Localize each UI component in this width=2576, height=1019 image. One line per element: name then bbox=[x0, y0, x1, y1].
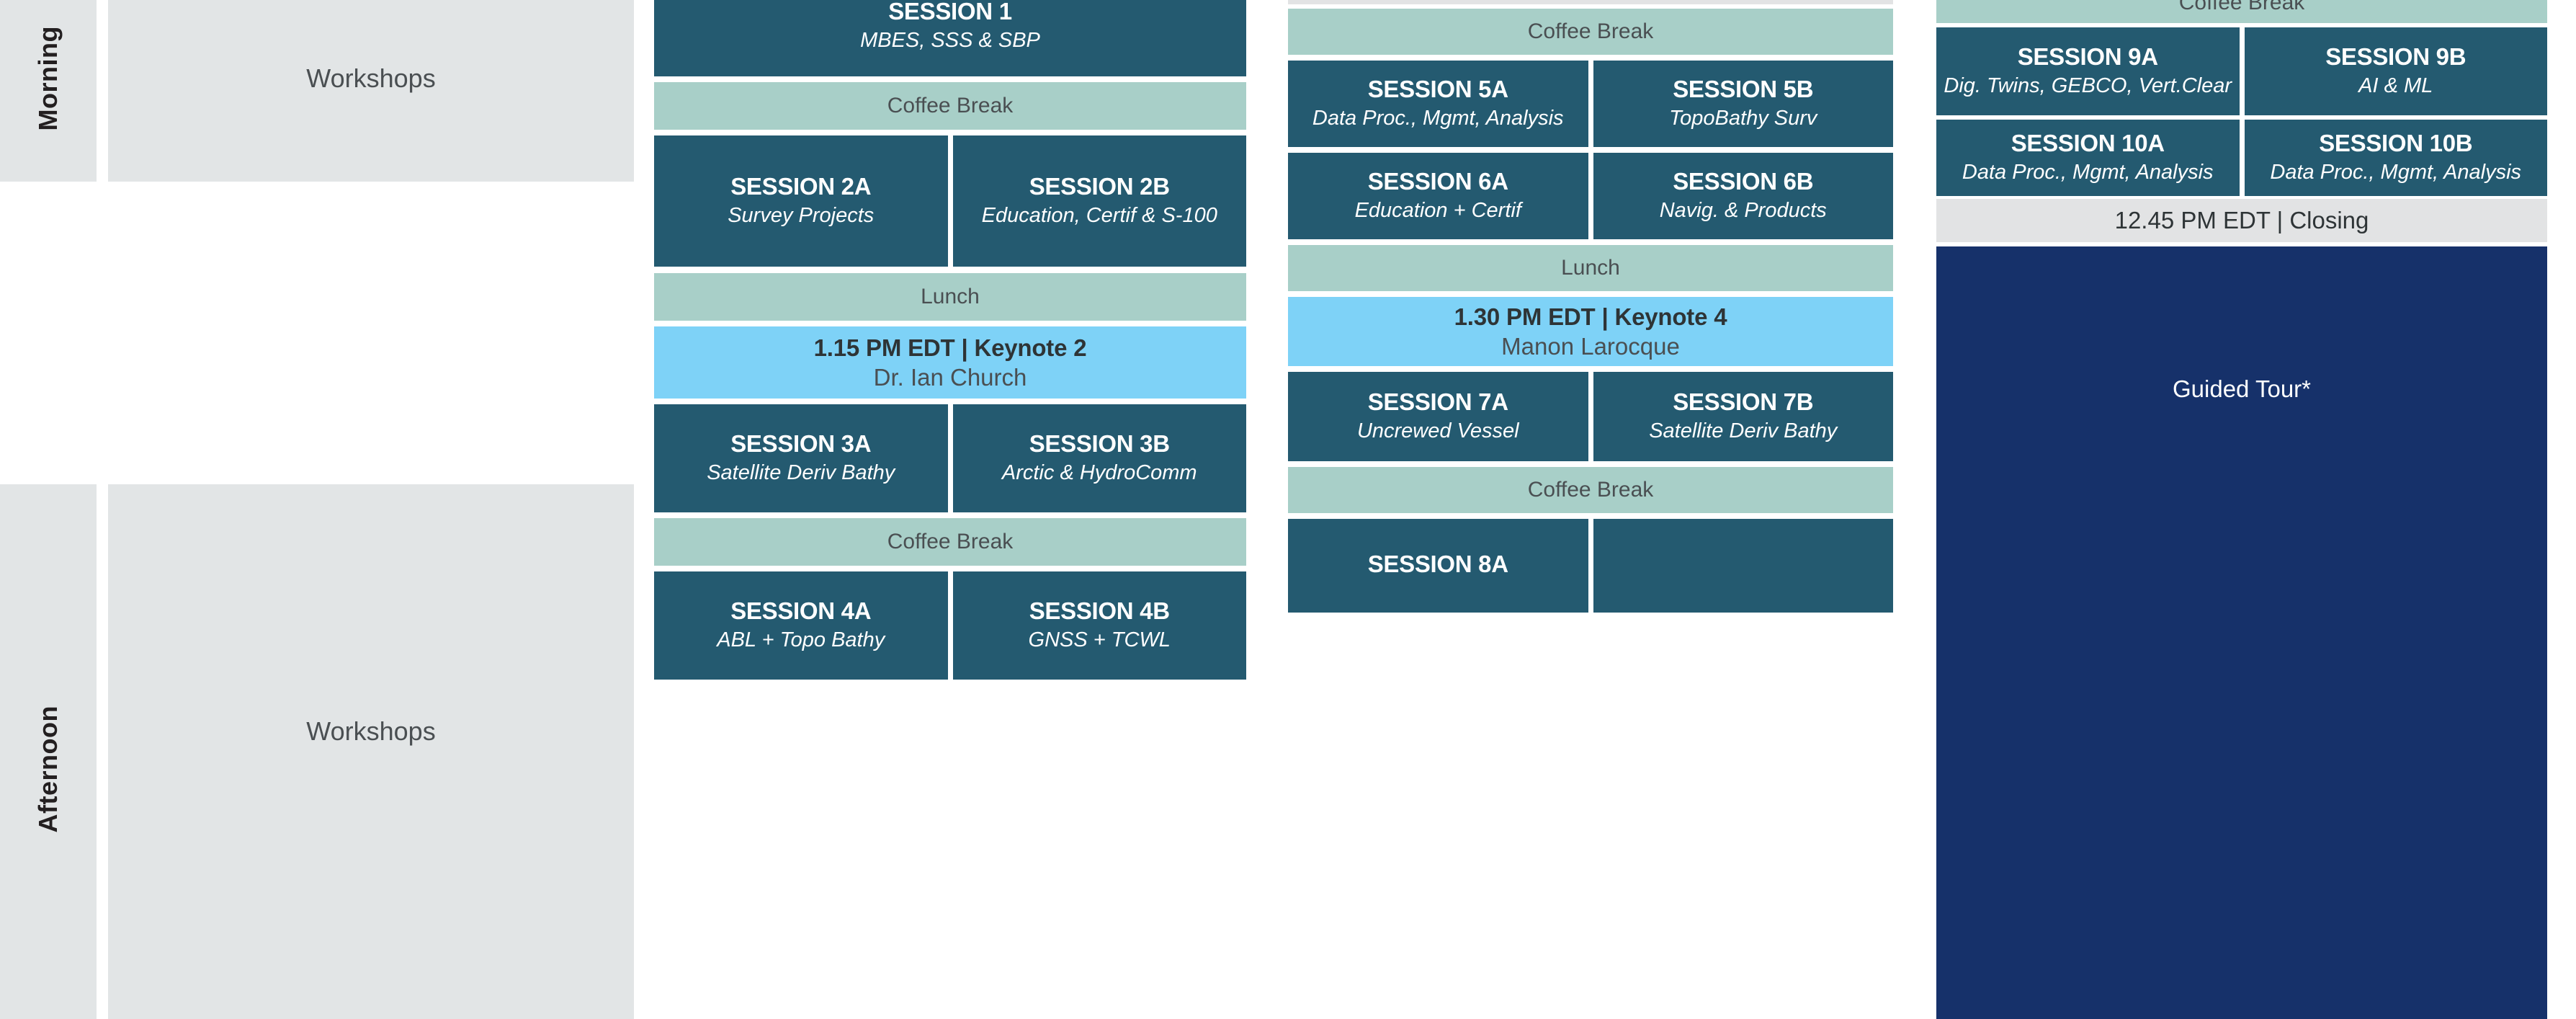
keynote-2-block[interactable]: 1.15 PM EDT | Keynote 2 Dr. Ian Church bbox=[654, 326, 1246, 399]
session-8a-block[interactable]: SESSION 8A bbox=[1288, 519, 1588, 613]
session-6a-block[interactable]: SESSION 6A Education + Certif bbox=[1288, 153, 1588, 239]
morning-workshops-cell[interactable]: Workshops bbox=[108, 0, 634, 182]
closing-label: 12.45 PM EDT | Closing bbox=[2115, 207, 2369, 234]
session-1-block[interactable]: SESSION 1 MBES, SSS & SBP bbox=[654, 0, 1246, 76]
afternoon-workshops-text: Workshops bbox=[306, 716, 435, 747]
session-2-row: SESSION 2A Survey Projects SESSION 2B Ed… bbox=[654, 135, 1246, 267]
session-9a-title: SESSION 9A bbox=[2018, 44, 2158, 71]
session-1-subtitle: MBES, SSS & SBP bbox=[860, 28, 1040, 53]
keynote-2-speaker: Dr. Ian Church bbox=[874, 364, 1027, 391]
session-8b-block[interactable] bbox=[1593, 519, 1894, 613]
session-2b-block[interactable]: SESSION 2B Education, Certif & S-100 bbox=[953, 135, 1247, 267]
session-10b-block[interactable]: SESSION 10B Data Proc., Mgmt, Analysis bbox=[2245, 120, 2548, 196]
session-10b-title: SESSION 10B bbox=[2319, 130, 2472, 157]
session-3-row: SESSION 3A Satellite Deriv Bathy SESSION… bbox=[654, 404, 1246, 512]
afternoon-workshops-cell[interactable]: Workshops bbox=[108, 484, 634, 1019]
session-5a-subtitle: Data Proc., Mgmt, Analysis bbox=[1312, 106, 1564, 130]
session-10-row: SESSION 10A Data Proc., Mgmt, Analysis S… bbox=[1936, 120, 2547, 196]
afternoon-label: Afternoon bbox=[0, 484, 97, 1019]
day3-lunch-label: Lunch bbox=[1561, 256, 1620, 280]
session-4b-subtitle: GNSS + TCWL bbox=[1029, 628, 1171, 652]
session-3a-title: SESSION 3A bbox=[730, 431, 871, 458]
session-7b-title: SESSION 7B bbox=[1673, 389, 1813, 416]
morning-label: Morning bbox=[0, 0, 97, 182]
session-9b-block[interactable]: SESSION 9B AI & ML bbox=[2245, 27, 2548, 115]
session-7a-subtitle: Uncrewed Vessel bbox=[1357, 419, 1519, 443]
day3-coffee-break-1-label: Coffee Break bbox=[1528, 19, 1654, 44]
session-6b-title: SESSION 6B bbox=[1673, 169, 1813, 195]
guided-tour-block[interactable]: Guided Tour* bbox=[1936, 246, 2547, 1019]
day3-coffee-break-2-label: Coffee Break bbox=[1528, 478, 1654, 502]
session-7a-block[interactable]: SESSION 7A Uncrewed Vessel bbox=[1288, 372, 1588, 461]
session-10a-block[interactable]: SESSION 10A Data Proc., Mgmt, Analysis bbox=[1936, 120, 2240, 196]
day4-coffee-break[interactable]: Coffee Break bbox=[1936, 0, 2547, 23]
session-7b-block[interactable]: SESSION 7B Satellite Deriv Bathy bbox=[1593, 372, 1894, 461]
day3-coffee-break-1[interactable]: Coffee Break bbox=[1288, 9, 1893, 55]
session-5-row: SESSION 5A Data Proc., Mgmt, Analysis SE… bbox=[1288, 61, 1893, 147]
session-10a-title: SESSION 10A bbox=[2011, 130, 2165, 157]
day2-coffee-break-1-label: Coffee Break bbox=[887, 94, 1014, 118]
day1-column: Morning Workshops Afternoon Workshops bbox=[0, 0, 634, 1019]
keynote-4-speaker: Manon Larocque bbox=[1501, 333, 1680, 360]
session-2a-subtitle: Survey Projects bbox=[728, 203, 874, 228]
day2-column: SESSION 1 MBES, SSS & SBP Coffee Break S… bbox=[654, 0, 1246, 1019]
afternoon-label-text: Afternoon bbox=[33, 706, 63, 832]
session-8a-title: SESSION 8A bbox=[1368, 551, 1508, 578]
conference-schedule-grid: Morning Workshops Afternoon Workshops SE… bbox=[0, 0, 2576, 1019]
afternoon-row: Afternoon Workshops bbox=[0, 484, 634, 1019]
closing-block[interactable]: 12.45 PM EDT | Closing bbox=[1936, 199, 2547, 242]
morning-workshops-text: Workshops bbox=[306, 63, 435, 94]
session-2b-title: SESSION 2B bbox=[1029, 174, 1170, 200]
day2-coffee-break-2[interactable]: Coffee Break bbox=[654, 518, 1246, 566]
day2-coffee-break-1[interactable]: Coffee Break bbox=[654, 82, 1246, 130]
day2-coffee-break-2-label: Coffee Break bbox=[887, 530, 1014, 554]
session-9a-subtitle: Dig. Twins, GEBCO, Vert.Clear bbox=[1944, 74, 2232, 98]
session-9b-title: SESSION 9B bbox=[2325, 44, 2466, 71]
guided-tour-label: Guided Tour* bbox=[2173, 375, 2311, 403]
session-10a-subtitle: Data Proc., Mgmt, Analysis bbox=[1962, 160, 2214, 184]
morning-row: Morning Workshops bbox=[0, 0, 634, 182]
session-2a-title: SESSION 2A bbox=[730, 174, 871, 200]
day4-coffee-break-label: Coffee Break bbox=[2179, 0, 2305, 15]
day2-lunch[interactable]: Lunch bbox=[654, 273, 1246, 321]
session-7-row: SESSION 7A Uncrewed Vessel SESSION 7B Sa… bbox=[1288, 372, 1893, 461]
day3-column: Coffee Break SESSION 5A Data Proc., Mgmt… bbox=[1288, 0, 1893, 1019]
day3-cutoff-strip bbox=[1288, 0, 1893, 4]
session-3b-subtitle: Arctic & HydroComm bbox=[1002, 460, 1197, 485]
session-9-row: SESSION 9A Dig. Twins, GEBCO, Vert.Clear… bbox=[1936, 27, 2547, 115]
session-8-row: SESSION 8A bbox=[1288, 519, 1893, 613]
session-4b-block[interactable]: SESSION 4B GNSS + TCWL bbox=[953, 571, 1247, 680]
day4-column: Coffee Break SESSION 9A Dig. Twins, GEBC… bbox=[1936, 0, 2547, 1019]
day3-coffee-break-2[interactable]: Coffee Break bbox=[1288, 467, 1893, 513]
session-6b-block[interactable]: SESSION 6B Navig. & Products bbox=[1593, 153, 1894, 239]
session-6a-title: SESSION 6A bbox=[1368, 169, 1508, 195]
session-6b-subtitle: Navig. & Products bbox=[1660, 198, 1827, 223]
session-3a-subtitle: Satellite Deriv Bathy bbox=[707, 460, 895, 485]
session-3a-block[interactable]: SESSION 3A Satellite Deriv Bathy bbox=[654, 404, 948, 512]
day2-lunch-label: Lunch bbox=[921, 285, 980, 309]
keynote-4-block[interactable]: 1.30 PM EDT | Keynote 4 Manon Larocque bbox=[1288, 297, 1893, 366]
session-5b-block[interactable]: SESSION 5B TopoBathy Surv bbox=[1593, 61, 1894, 147]
session-9a-block[interactable]: SESSION 9A Dig. Twins, GEBCO, Vert.Clear bbox=[1936, 27, 2240, 115]
session-6-row: SESSION 6A Education + Certif SESSION 6B… bbox=[1288, 153, 1893, 239]
session-4a-block[interactable]: SESSION 4A ABL + Topo Bathy bbox=[654, 571, 948, 680]
session-7b-subtitle: Satellite Deriv Bathy bbox=[1649, 419, 1837, 443]
session-5a-title: SESSION 5A bbox=[1368, 76, 1508, 103]
session-2a-block[interactable]: SESSION 2A Survey Projects bbox=[654, 135, 948, 267]
session-2b-subtitle: Education, Certif & S-100 bbox=[982, 203, 1217, 228]
day3-lunch[interactable]: Lunch bbox=[1288, 245, 1893, 291]
session-5b-subtitle: TopoBathy Surv bbox=[1669, 106, 1817, 130]
session-4-row: SESSION 4A ABL + Topo Bathy SESSION 4B G… bbox=[654, 571, 1246, 680]
session-7a-title: SESSION 7A bbox=[1368, 389, 1508, 416]
session-6a-subtitle: Education + Certif bbox=[1355, 198, 1521, 223]
session-4a-title: SESSION 4A bbox=[730, 598, 871, 625]
session-5b-title: SESSION 5B bbox=[1673, 76, 1813, 103]
session-3b-title: SESSION 3B bbox=[1029, 431, 1170, 458]
keynote-4-time: 1.30 PM EDT | Keynote 4 bbox=[1454, 303, 1727, 331]
session-10b-subtitle: Data Proc., Mgmt, Analysis bbox=[2270, 160, 2521, 184]
session-1-title: SESSION 1 bbox=[888, 0, 1012, 25]
keynote-2-time: 1.15 PM EDT | Keynote 2 bbox=[814, 334, 1087, 362]
session-5a-block[interactable]: SESSION 5A Data Proc., Mgmt, Analysis bbox=[1288, 61, 1588, 147]
session-4a-subtitle: ABL + Topo Bathy bbox=[717, 628, 885, 652]
session-4b-title: SESSION 4B bbox=[1029, 598, 1170, 625]
morning-label-text: Morning bbox=[33, 26, 63, 130]
session-9b-subtitle: AI & ML bbox=[2358, 74, 2433, 98]
session-3b-block[interactable]: SESSION 3B Arctic & HydroComm bbox=[953, 404, 1247, 512]
